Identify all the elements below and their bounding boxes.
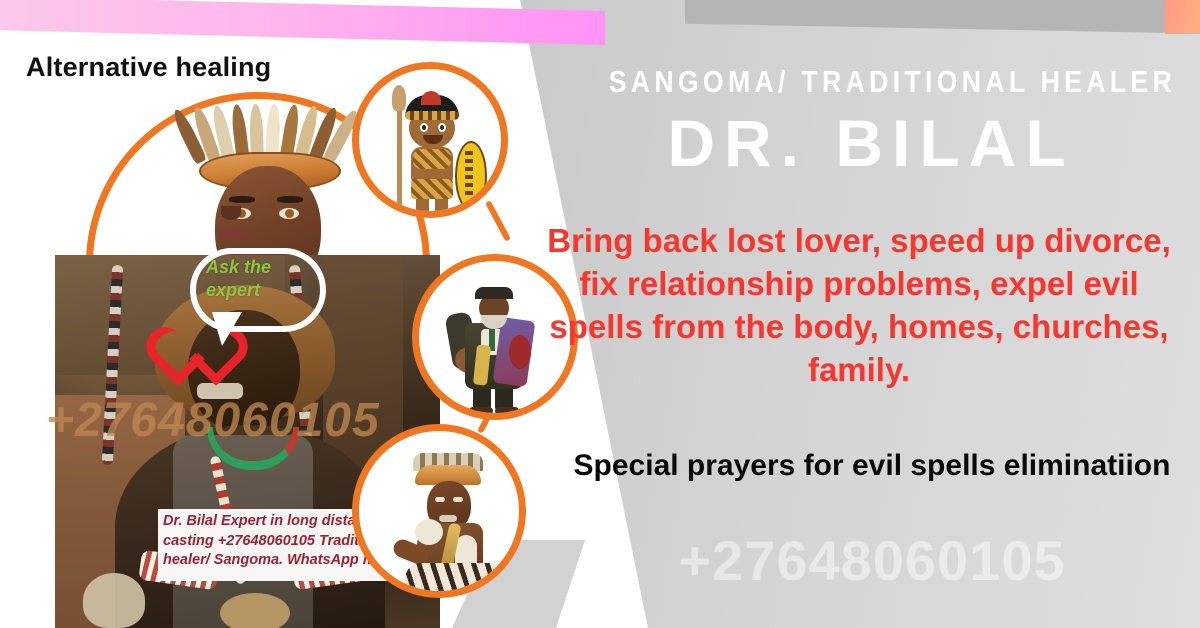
kicker-sangoma-traditional-healer: SANGOMA/ TRADITIONAL HEALER bbox=[609, 64, 1134, 100]
clay-pot-center bbox=[220, 593, 290, 628]
clay-pot-left bbox=[83, 573, 145, 628]
circle-crouching-dancer-icon bbox=[352, 424, 526, 598]
figure-mouth bbox=[217, 228, 247, 240]
circle-zulu-warrior-icon bbox=[352, 62, 508, 218]
special-prayers-text: Special prayers for evil spells eliminat… bbox=[566, 446, 1178, 486]
services-text: Bring back lost lover, speed up divorce,… bbox=[538, 220, 1180, 392]
right-watermark-phone: +27648060105 bbox=[566, 528, 1178, 593]
speech-bubble-text: Ask the expert bbox=[206, 256, 316, 301]
top-orange-strip bbox=[1165, 0, 1200, 34]
tagline-alternative-healing: Alternative healing bbox=[26, 52, 271, 83]
figure-nose bbox=[221, 206, 241, 220]
speech-bubble-tail bbox=[212, 312, 242, 346]
poster-canvas: Ask the expert +27648060105 Dr. Bilal Ex… bbox=[0, 0, 1200, 628]
photo-watermark-phone: +27648060105 bbox=[46, 393, 380, 448]
page-title-dr-bilal: DR. BILAL bbox=[566, 105, 1176, 181]
